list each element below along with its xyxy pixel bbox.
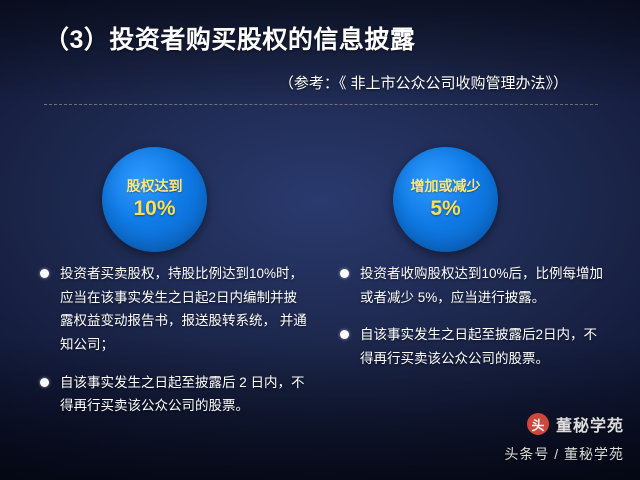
list-item: 投资者收购股权达到10%后，比例每增加或者减少 5%，应当进行披露。	[340, 262, 605, 309]
list-item-text: 自该事实发生之日起至披露后 2 日内，不得再行买卖该公众公司的股票。	[60, 375, 305, 414]
circle-value-left: 10%	[133, 197, 175, 221]
page-subtitle: （参考：《 非上市公众公司收购管理办法》）	[279, 72, 568, 93]
list-item-text: 投资者收购股权达到10%后，比例每增加或者减少 5%，应当进行披露。	[360, 266, 603, 305]
bullet-dot-icon	[40, 378, 49, 387]
bullet-dot-icon	[40, 269, 49, 278]
slide-canvas: （3）投资者购买股权的信息披露 （参考：《 非上市公众公司收购管理办法》） 股权…	[0, 0, 640, 480]
toutiao-badge-icon: 头	[527, 413, 549, 435]
list-item-text: 投资者买卖股权，持股比例达到10%时，应当在该事实发生之日起2日内编制并披露权益…	[60, 266, 307, 352]
circle-badge-right: 增加或减少 5%	[393, 147, 498, 252]
circle-badge-left: 股权达到 10%	[102, 147, 207, 252]
watermark: 头 董秘学苑	[527, 412, 624, 436]
circle-label-right: 增加或减少	[411, 178, 481, 196]
footer-credit: 头条号 / 董秘学苑	[504, 444, 624, 464]
bullet-dot-icon	[340, 330, 349, 339]
list-item: 投资者买卖股权，持股比例达到10%时，应当在该事实发生之日起2日内编制并披露权益…	[40, 262, 310, 357]
watermark-text: 董秘学苑	[556, 412, 624, 436]
page-title: （3）投资者购买股权的信息披露	[44, 20, 415, 56]
list-item: 自该事实发生之日起至披露后 2 日内，不得再行买卖该公众公司的股票。	[40, 371, 310, 418]
circle-label-left: 股权达到	[127, 178, 183, 196]
bullet-column-right: 投资者收购股权达到10%后，比例每增加或者减少 5%，应当进行披露。 自该事实发…	[340, 262, 605, 385]
header-divider	[44, 104, 598, 105]
circle-value-right: 5%	[430, 197, 460, 221]
list-item: 自该事实发生之日起至披露后2日内，不得再行买卖该公众公司的股票。	[340, 323, 605, 370]
bullet-column-left: 投资者买卖股权，持股比例达到10%时，应当在该事实发生之日起2日内编制并披露权益…	[40, 262, 310, 432]
bullet-dot-icon	[340, 269, 349, 278]
list-item-text: 自该事实发生之日起至披露后2日内，不得再行买卖该公众公司的股票。	[360, 327, 597, 366]
